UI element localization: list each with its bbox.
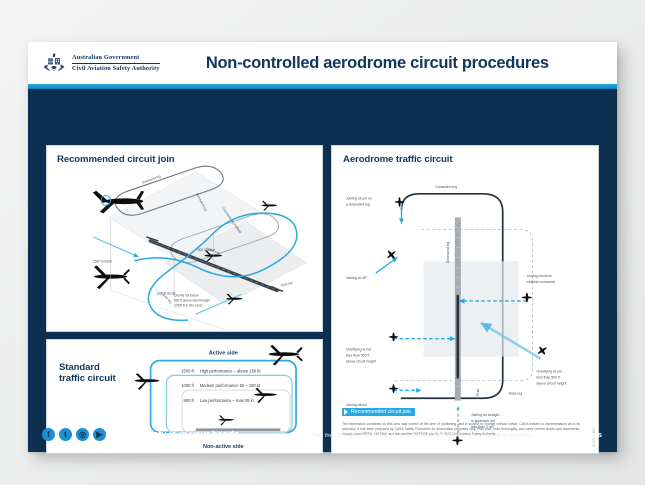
pilot-hub-text: Visit the CASA pilot safety hub for a ra…: [312, 433, 534, 439]
casa-logo: Australian Government Civil Aviation Saf…: [41, 51, 160, 75]
panel-title-standard-traffic-circuit: Standard traffic circuit: [59, 362, 116, 385]
label-overfly-left-line-1: Overflying at not: [346, 348, 371, 352]
label-join-base-line-1: Joining circuit: [346, 403, 367, 407]
poster-body: Downwind leg Crosswind leg Crosswind leg…: [28, 89, 617, 452]
org-line-2: Civil Aviation Safety Authority: [72, 64, 160, 73]
recommended-circuit-join-diagram: Downwind leg Crosswind leg Crosswind leg…: [47, 146, 322, 331]
label-overfly-right-line-1: Overflying at not: [536, 369, 561, 373]
poster-footer: f t ◎ ▶ Your safety is in your hands. Vi…: [28, 417, 617, 452]
label-crosswind-leg: Crosswind leg: [435, 185, 457, 189]
label-overfly-right-line-2: less than 500 ft: [536, 375, 560, 379]
label-altitude-1500: 1500 ft circuit: [93, 260, 112, 264]
tier-2-description: Low performance – max 55 kt: [200, 398, 255, 403]
label-altitude-1000: 1000 ft circuit: [156, 291, 175, 295]
youtube-icon[interactable]: ▶: [93, 428, 106, 441]
panel-aerodrome-traffic-circuit: Joining circuit on a downwind leg Crossw…: [331, 145, 599, 454]
label-final: Final: [476, 389, 480, 397]
label-final-leg: Final leg: [280, 281, 293, 288]
aerodrome-traffic-circuit-diagram: Joining circuit on a downwind leg Crossw…: [332, 146, 598, 453]
tier-0-altitude: 1500 ft: [181, 368, 194, 373]
facebook-icon[interactable]: f: [42, 428, 55, 441]
label-join-45: Joining at 45°: [346, 276, 368, 280]
org-line-1: Australian Government: [72, 53, 160, 64]
tier-1-description: Medium performance 55 – 150 kt: [200, 383, 261, 388]
label-active-side: Active side: [209, 351, 238, 357]
pilot-hub-line: Visit the CASA pilot safety hub for a ra…: [312, 430, 602, 439]
overfly-note-line-1: Overfly not below: [174, 293, 199, 297]
poster-sheet: Australian Government Civil Aviation Saf…: [28, 42, 617, 452]
panel-title-aerodrome-traffic-circuit: Aerodrome traffic circuit: [343, 154, 452, 165]
label-join-downwind-line-1: Joining circuit on: [346, 197, 372, 201]
twitter-icon[interactable]: t: [59, 428, 72, 441]
tier-1-altitude: 1000 ft: [181, 383, 194, 388]
social-links: f t ◎ ▶: [42, 428, 106, 441]
label-join-midfield-line-2: midfield crosswind: [527, 280, 555, 284]
label-base-leg: Base leg: [509, 391, 523, 395]
std-title-line-2: traffic circuit: [59, 373, 116, 384]
overfly-note-line-3: (2000 ft in this case): [174, 303, 202, 307]
legend-recommended-circuit-join: Recommended circuit join: [342, 408, 415, 416]
poster-header: Australian Government Civil Aviation Saf…: [28, 42, 617, 84]
panel-recommended-circuit-join: Downwind leg Crosswind leg Crosswind leg…: [46, 145, 323, 332]
label-overfly-right-line-3: above circuit height: [536, 381, 566, 385]
pilot-hub-url[interactable]: casa.gov.au/pilots: [538, 430, 602, 439]
label-overfly-left-line-3: above circuit height: [346, 360, 376, 364]
panel-title-recommended-circuit-join: Recommended circuit join: [57, 154, 175, 165]
label-downwind-leg: Downwind leg: [446, 242, 450, 264]
label-join-midfield-line-1: Joining circuit at: [527, 274, 552, 278]
label-join-downwind-line-2: a downwind leg: [346, 203, 370, 207]
tier-0-description: High performance – above 150 kt: [200, 368, 262, 373]
page-title: Non-controlled aerodrome circuit procedu…: [160, 54, 617, 73]
label-altitude-500: 500 ft circuit: [198, 248, 215, 252]
label-overfly-left-line-2: less than 500 ft: [346, 354, 370, 358]
tier-2-altitude: 500 ft: [184, 398, 195, 403]
legend-arrow-icon: [344, 409, 348, 415]
instagram-icon[interactable]: ◎: [76, 428, 89, 441]
overfly-note-line-2: 500 ft above circuit height: [174, 298, 210, 302]
safety-slogan: Your safety is in your hands.: [117, 429, 242, 440]
std-title-line-1: Standard: [59, 362, 100, 373]
australian-coat-of-arms-icon: [41, 51, 67, 75]
legend-label: Recommended circuit join: [351, 409, 411, 415]
